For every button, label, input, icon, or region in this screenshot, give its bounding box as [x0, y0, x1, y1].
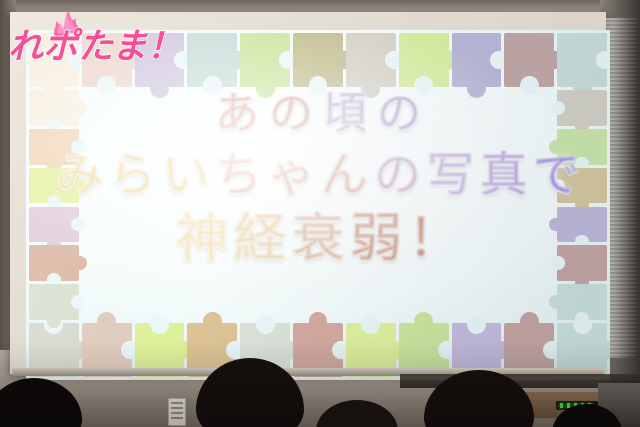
- title-line-3: 神経衰弱！: [173, 213, 463, 265]
- title-char: 神: [176, 213, 228, 265]
- logo-wordmark: れポたま！: [8, 27, 176, 67]
- title-char: の: [374, 152, 421, 199]
- wall-sign: [168, 398, 186, 426]
- title-char: あ: [215, 92, 259, 136]
- projection-screen: あの頃の みらいちゃんの写真で 神経衰弱！: [26, 30, 610, 380]
- title-char: 弱: [350, 213, 402, 265]
- title-char: で: [533, 152, 580, 199]
- title-char: み: [56, 152, 103, 199]
- title-char: 写: [427, 152, 474, 199]
- title-char: の: [377, 92, 421, 136]
- screenshot-stage: あの頃の みらいちゃんの写真で 神経衰弱！ れポたま！: [0, 0, 640, 427]
- title-char: ら: [109, 152, 156, 199]
- title-char: ゃ: [268, 152, 315, 199]
- title-char: い: [162, 152, 209, 199]
- title-char: ん: [321, 152, 368, 199]
- title-char: ち: [215, 152, 262, 199]
- title-line-1: あの頃の: [210, 92, 426, 136]
- title-char: 経: [234, 213, 286, 265]
- repotama-logo: れポたま！: [6, 6, 176, 68]
- title-char: ！: [408, 213, 460, 265]
- title-char: 真: [480, 152, 527, 199]
- title-char: 衰: [292, 213, 344, 265]
- title-line-2: みらいちゃんの写真で: [53, 152, 583, 199]
- title-char: 頃: [323, 92, 367, 136]
- svg-text:れポたま！: れポたま！: [8, 27, 176, 67]
- slide-title-block: あの頃の みらいちゃんの写真で 神経衰弱！: [26, 30, 610, 380]
- title-char: の: [269, 92, 313, 136]
